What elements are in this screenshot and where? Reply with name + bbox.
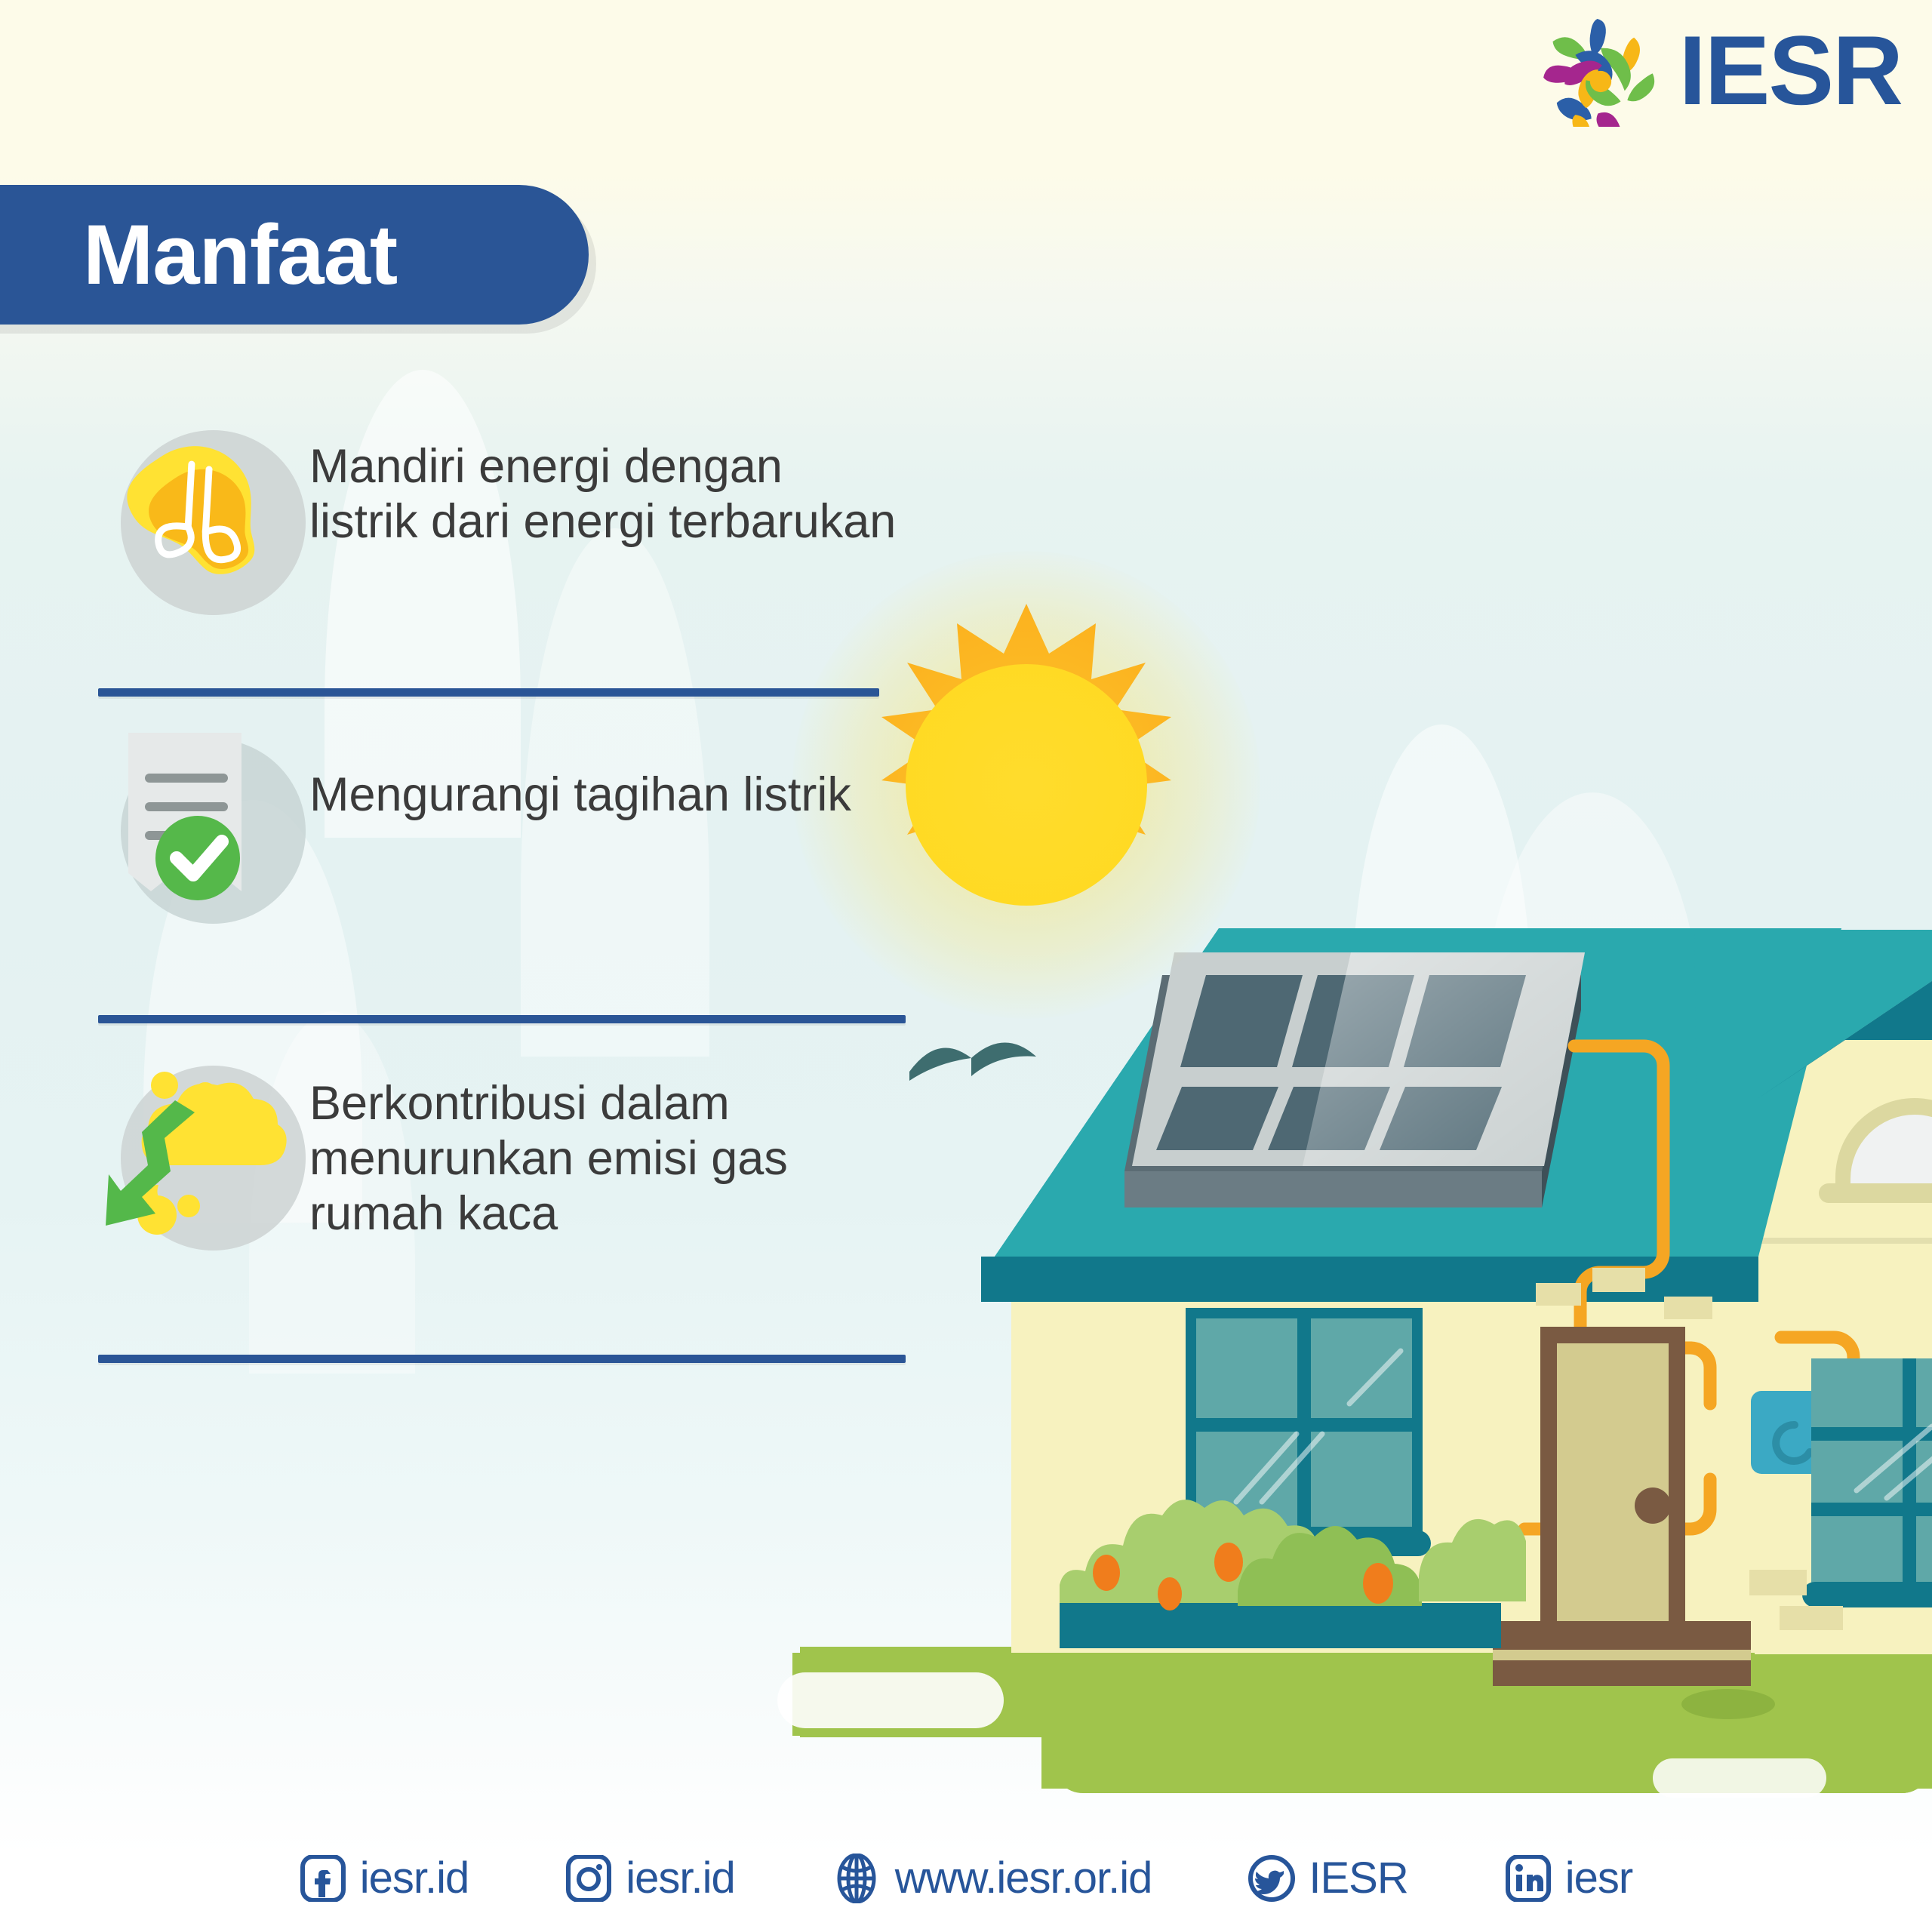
social-footer: iesr.id iesr.id www.iesr.or.id bbox=[0, 1853, 1932, 1903]
benefit-text: Berkontribusi dalam menurunkan emisi gas… bbox=[309, 1076, 898, 1241]
iesr-logo: IESR bbox=[1533, 14, 1902, 127]
bill-document-check-icon bbox=[98, 731, 302, 931]
benefit-item: Mandiri energi dengan listrik dari energ… bbox=[98, 423, 913, 679]
page-title-banner: Manfaat bbox=[0, 185, 589, 325]
benefit-divider bbox=[98, 688, 879, 697]
benefit-item: Mengurangi tagihan listrik bbox=[98, 731, 913, 988]
footer-twitter[interactable]: IESR bbox=[1248, 1853, 1407, 1903]
solar-panel bbox=[1124, 952, 1585, 1207]
page-title: Manfaat bbox=[83, 206, 397, 303]
bird-icon bbox=[909, 1042, 1036, 1081]
footer-linkedin-label: iesr bbox=[1565, 1853, 1632, 1903]
footer-twitter-label: IESR bbox=[1309, 1853, 1407, 1903]
footer-facebook[interactable]: iesr.id bbox=[300, 1853, 469, 1903]
facebook-icon[interactable] bbox=[300, 1855, 346, 1902]
iesr-swirl-logo bbox=[1533, 14, 1669, 127]
benefit-text: Mengurangi tagihan listrik bbox=[309, 768, 851, 823]
benefit-divider bbox=[98, 1355, 906, 1363]
instagram-icon[interactable] bbox=[565, 1855, 612, 1902]
footer-linkedin[interactable]: iesr bbox=[1505, 1853, 1632, 1903]
grass-ground bbox=[777, 1647, 1932, 1798]
benefit-text: Mandiri energi dengan listrik dari energ… bbox=[309, 439, 898, 549]
benefit-divider bbox=[98, 1015, 906, 1023]
footer-instagram-label: iesr.id bbox=[626, 1853, 735, 1903]
footer-website-label: www.iesr.or.id bbox=[895, 1853, 1152, 1903]
footer-facebook-label: iesr.id bbox=[360, 1853, 469, 1903]
globe-icon[interactable] bbox=[832, 1854, 881, 1903]
benefits-list: Mandiri energi dengan listrik dari energ… bbox=[98, 423, 913, 1363]
infographic-canvas: Manfaat IESR bbox=[0, 0, 1932, 1932]
lightbulb-icon bbox=[98, 423, 302, 623]
window bbox=[1802, 1358, 1932, 1607]
iesr-logo-text: IESR bbox=[1679, 21, 1902, 119]
front-door bbox=[1540, 1327, 1685, 1659]
linkedin-icon[interactable] bbox=[1505, 1855, 1552, 1902]
twitter-icon[interactable] bbox=[1248, 1855, 1295, 1902]
emission-cloud-down-arrow-icon bbox=[98, 1058, 302, 1258]
benefit-item: Berkontribusi dalam menurunkan emisi gas… bbox=[98, 1058, 913, 1326]
door-steps bbox=[1493, 1577, 1751, 1686]
footer-website[interactable]: www.iesr.or.id bbox=[832, 1853, 1152, 1903]
footer-instagram[interactable]: iesr.id bbox=[565, 1853, 735, 1903]
